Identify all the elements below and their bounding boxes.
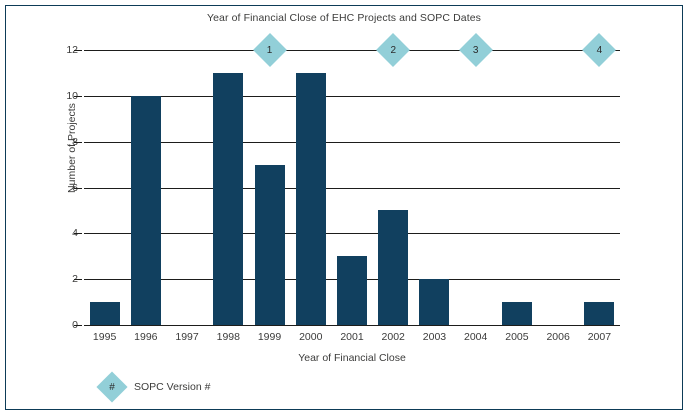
- x-axis-title: Year of Financial Close: [84, 352, 620, 364]
- y-tick-mark-2: [74, 279, 82, 280]
- y-tick-mark-12: [74, 50, 82, 51]
- x-tick-label-2006: 2006: [536, 331, 580, 343]
- bar-2001: [337, 256, 367, 325]
- gridline-y-10: [84, 96, 620, 97]
- diamond-glyph: #: [98, 373, 126, 401]
- chart-figure: Year of Financial Close of EHC Projects …: [0, 0, 688, 415]
- x-tick-label-1999: 1999: [248, 331, 292, 343]
- bar-2007: [584, 302, 614, 325]
- gridline-y-6: [84, 188, 620, 189]
- sopc-marker-label: 1: [255, 35, 285, 65]
- sopc-marker-label: 4: [584, 35, 614, 65]
- bar-2005: [502, 302, 532, 325]
- x-tick-label-1995: 1995: [83, 331, 127, 343]
- y-tick-mark-4: [74, 233, 82, 234]
- x-tick-label-2002: 2002: [371, 331, 415, 343]
- x-tick-label-1997: 1997: [165, 331, 209, 343]
- x-tick-label-2004: 2004: [454, 331, 498, 343]
- sopc-diamond-icon: #: [98, 373, 126, 401]
- x-tick-label-2003: 2003: [412, 331, 456, 343]
- x-tick-label-2000: 2000: [289, 331, 333, 343]
- sopc-marker-3: 3: [461, 35, 491, 65]
- x-tick-label-1998: 1998: [206, 331, 250, 343]
- x-tick-label-1996: 1996: [124, 331, 168, 343]
- bar-1999: [255, 165, 285, 325]
- y-tick-mark-0: [74, 325, 82, 326]
- sopc-marker-4: 4: [584, 35, 614, 65]
- y-tick-mark-8: [74, 142, 82, 143]
- chart-title: Year of Financial Close of EHC Projects …: [0, 12, 688, 24]
- y-tick-mark-6: [74, 188, 82, 189]
- gridline-y-8: [84, 142, 620, 143]
- bar-2002: [378, 210, 408, 325]
- bar-1996: [131, 96, 161, 325]
- bar-1995: [90, 302, 120, 325]
- x-tick-label-2007: 2007: [577, 331, 621, 343]
- legend-label: SOPC Version #: [134, 381, 210, 393]
- sopc-marker-1: 1: [255, 35, 285, 65]
- gridline-y-12: [84, 50, 620, 51]
- sopc-marker-2: 2: [378, 35, 408, 65]
- chart-legend: # SOPC Version #: [98, 373, 210, 401]
- y-tick-mark-10: [74, 96, 82, 97]
- sopc-marker-label: 2: [378, 35, 408, 65]
- gridline-y-4: [84, 233, 620, 234]
- bar-2003: [419, 279, 449, 325]
- plot-area: [84, 50, 620, 325]
- sopc-marker-label: 3: [461, 35, 491, 65]
- bar-2000: [296, 73, 326, 325]
- x-tick-label-2001: 2001: [330, 331, 374, 343]
- x-tick-label-2005: 2005: [495, 331, 539, 343]
- bar-1998: [213, 73, 243, 325]
- gridline-y-0: [84, 325, 620, 326]
